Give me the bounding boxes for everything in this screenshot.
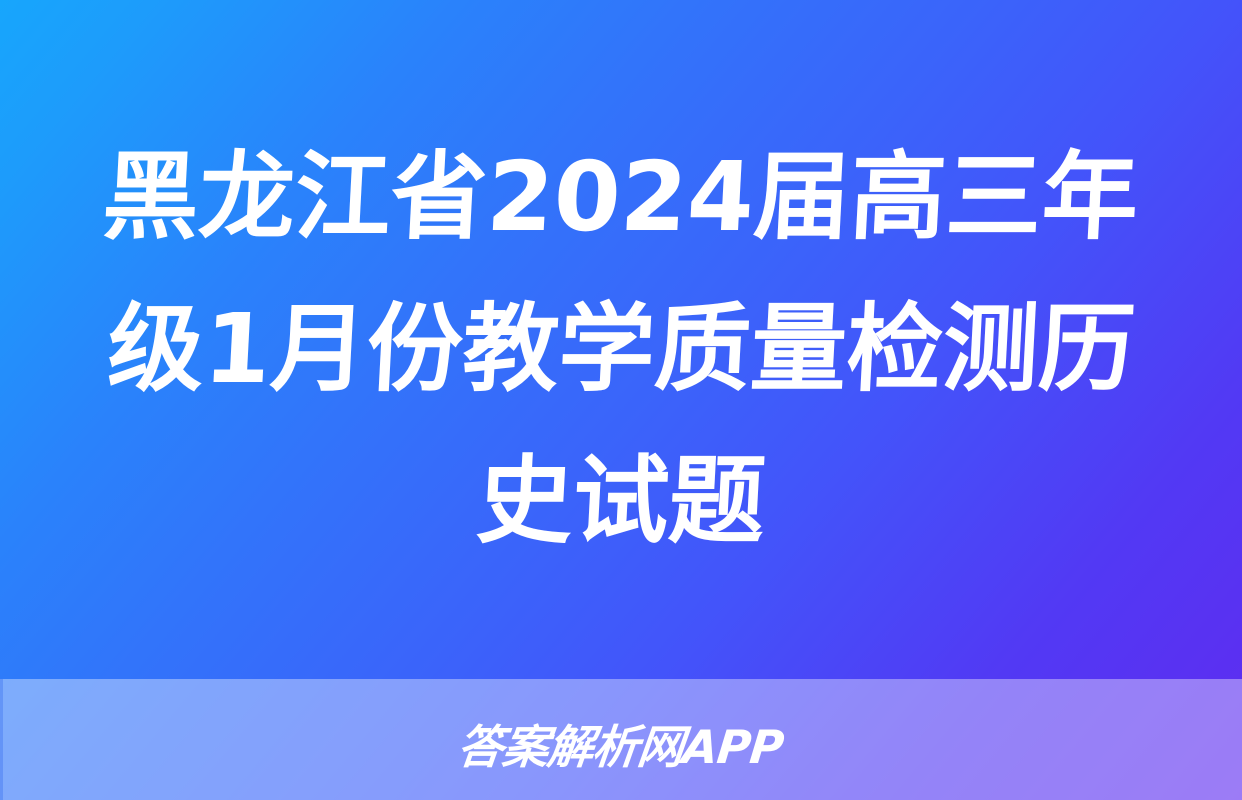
exam-title-card: 黑龙江省2024届高三年 级1月份教学质量检测历 史试题 答案解析网APP — [0, 0, 1242, 800]
footer-band-left-edge — [0, 679, 3, 800]
app-watermark-label: 答案解析网APP — [455, 711, 787, 777]
title-block: 黑龙江省2024届高三年 级1月份教学质量检测历 史试题 — [0, 0, 1242, 679]
title-line-3: 史试题 — [473, 425, 769, 577]
title-line-2: 级1月份教学质量检测历 — [104, 273, 1139, 425]
footer-watermark-band: 答案解析网APP — [0, 679, 1242, 800]
title-line-1: 黑龙江省2024届高三年 — [99, 121, 1142, 273]
